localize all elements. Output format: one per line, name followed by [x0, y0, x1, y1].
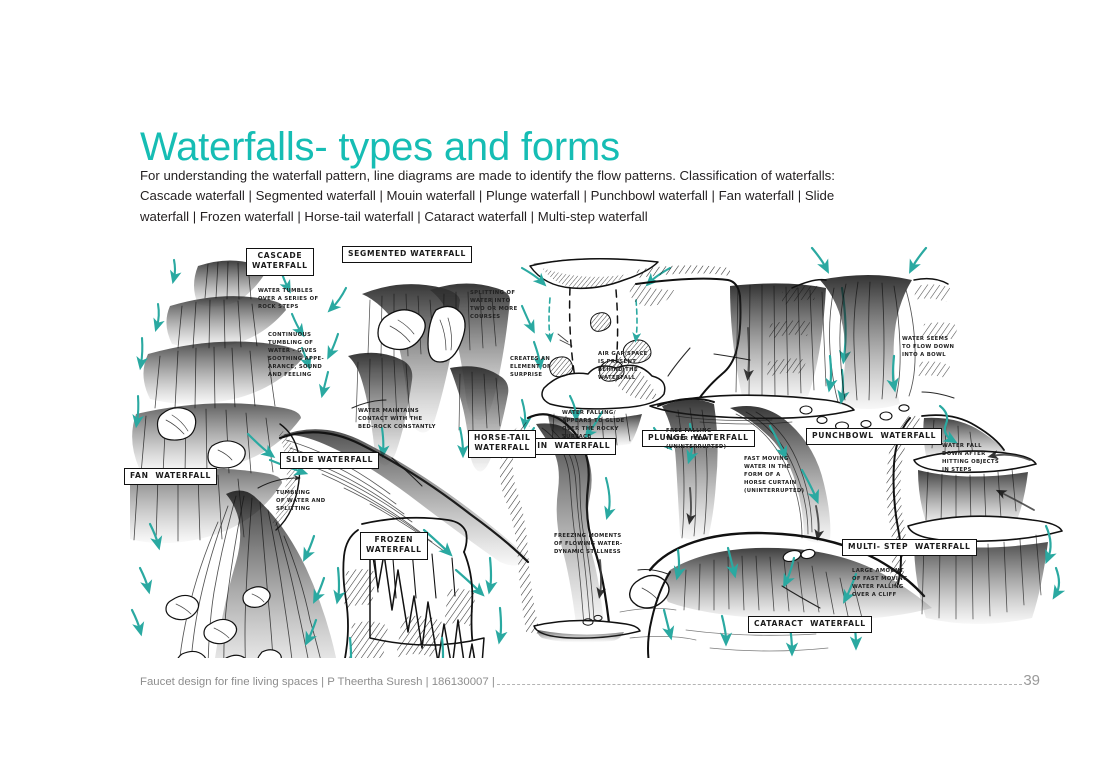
note-horsetail-1: WATER FALLING/ APPEARS TO GLIDE OVER THE…: [562, 410, 625, 442]
note-punchbowl-1: WATER SEEMS TO FLOW DOWN INTO A BOWL: [902, 336, 954, 360]
label-slide: SLIDE WATERFALL: [280, 452, 379, 469]
intro-paragraph: For understanding the waterfall pattern,…: [140, 166, 970, 227]
label-cataract: CATARACT WATERFALL: [748, 616, 872, 633]
intro-line-3: waterfall | Frozen waterfall | Horse-tai…: [140, 207, 970, 227]
note-fan-1: TUMBLING OF WATER AND SPLITTING: [276, 490, 326, 514]
label-punchbowl: PUNCHBOWL WATERFALL: [806, 428, 942, 445]
footer-text: Faucet design for fine living spaces | P…: [140, 676, 495, 688]
intro-line-1: For understanding the waterfall pattern,…: [140, 166, 970, 186]
slide-page: Waterfalls- types and forms For understa…: [0, 0, 1100, 778]
note-frozen-1: FREEZING MOMENTS OF FLOWING WATER- DYNAM…: [554, 533, 622, 557]
label-multistep: MULTI- STEP WATERFALL: [842, 539, 977, 556]
note-segmented-1: SPLITTING OF WATER INTO TWO OR MORE COUR…: [470, 290, 518, 322]
note-mouin-1: CREATES AN ELEMENT OF SURPRISE: [510, 356, 551, 380]
label-frozen: FROZEN WATERFALL: [360, 532, 428, 560]
label-fan: FAN WATERFALL: [124, 468, 217, 485]
note-segmented-2: WATER MAINTAINS CONTACT WITH THE BED-ROC…: [358, 408, 436, 432]
note-cataract-3: LARGE AMOUNT OF FAST MOVING WATER FALLIN…: [852, 568, 908, 600]
label-segmented: SEGMENTED WATERFALL: [342, 246, 472, 263]
page-footer: Faucet design for fine living spaces | P…: [140, 672, 1040, 689]
intro-line-2: Cascade waterfall | Segmented waterfall …: [140, 186, 970, 206]
note-cascade-2: CONTINUOUS TUMBLING OF WATER - GIVES SOO…: [268, 332, 324, 380]
note-cascade-1: WATER TUMBLES OVER A SERIES OF ROCK STEP…: [258, 288, 318, 312]
note-multistep-1: WATER FALL DOWN AFTER HITTING OBJECTS IN…: [942, 443, 999, 475]
label-cascade: CASCADE WATERFALL: [246, 248, 314, 276]
footer-dashed-rule: [497, 683, 1022, 685]
label-horsetail: HORSE-TAIL WATERFALL: [468, 430, 536, 458]
page-title: Waterfalls- types and forms: [140, 125, 620, 169]
page-number: 39: [1023, 672, 1040, 689]
note-cataract-1: FREE FALLING WATER FLOW (UNINTERRUPTED): [666, 428, 726, 452]
waterfall-sketch-plate: CASCADE WATERFALL WATER TUMBLES OVER A S…: [130, 238, 1075, 658]
note-cataract-2: FAST MOVING WATER IN THE FORM OF A HORSE…: [744, 456, 804, 496]
note-plunge-1: AIR GAP/SPACE IS PRESENT BEHIND THE WATE…: [598, 351, 648, 383]
